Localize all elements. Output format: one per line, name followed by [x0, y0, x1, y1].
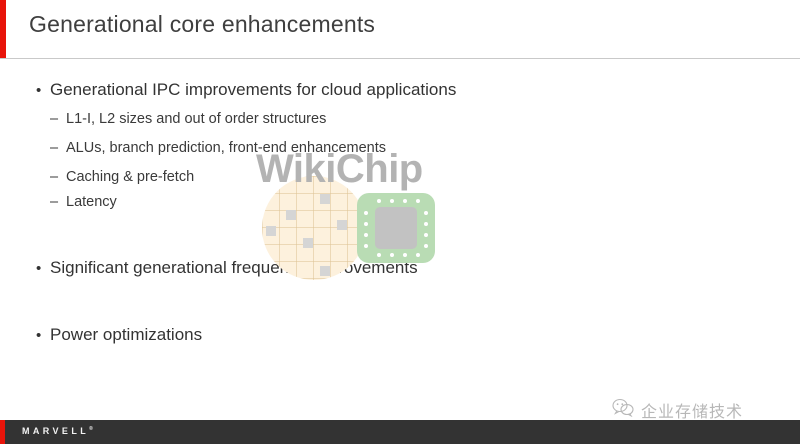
bullet-label: Power optimizations	[50, 325, 202, 344]
sub-bullet-marker: –	[50, 111, 66, 127]
sub-bullet-item: –ALUs, branch prediction, front-end enha…	[50, 140, 386, 156]
sub-bullet-label: L1-I, L2 sizes and out of order structur…	[66, 111, 326, 127]
sub-bullet-marker: –	[50, 140, 66, 156]
bullet-label: Significant generational frequency impro…	[50, 258, 418, 277]
sub-bullet-marker: –	[50, 194, 66, 210]
slide-body: •Generational IPC improvements for cloud…	[0, 60, 800, 410]
wechat-watermark: 企业存储技术	[612, 398, 743, 422]
bullet-item: •Significant generational frequency impr…	[36, 258, 418, 278]
presentation-slide: Generational core enhancements •Generati…	[0, 0, 800, 444]
header-divider	[0, 58, 800, 59]
bullet-marker: •	[36, 260, 50, 277]
sub-bullet-label: Latency	[66, 194, 117, 210]
sub-bullet-item: –Latency	[50, 194, 117, 210]
bullet-item: •Power optimizations	[36, 325, 202, 345]
bullet-item: •Generational IPC improvements for cloud…	[36, 80, 456, 100]
wechat-label: 企业存储技术	[641, 398, 743, 422]
sub-bullet-item: –Caching & pre-fetch	[50, 169, 194, 185]
wechat-icon	[612, 398, 634, 422]
sub-bullet-label: ALUs, branch prediction, front-end enhan…	[66, 140, 386, 156]
brand-name: MARVELL	[22, 426, 89, 436]
header-accent-bar	[0, 0, 6, 58]
bullet-marker: •	[36, 327, 50, 344]
slide-footer: MARVELL®	[0, 420, 800, 444]
bullet-marker: •	[36, 82, 50, 99]
sub-bullet-item: –L1-I, L2 sizes and out of order structu…	[50, 111, 326, 127]
bullet-label: Generational IPC improvements for cloud …	[50, 80, 456, 99]
sub-bullet-marker: –	[50, 169, 66, 185]
marvell-logo: MARVELL®	[22, 426, 93, 436]
footer-accent-bar	[0, 420, 5, 444]
trademark-symbol: ®	[89, 426, 93, 432]
page-title: Generational core enhancements	[29, 11, 375, 38]
sub-bullet-label: Caching & pre-fetch	[66, 169, 194, 185]
